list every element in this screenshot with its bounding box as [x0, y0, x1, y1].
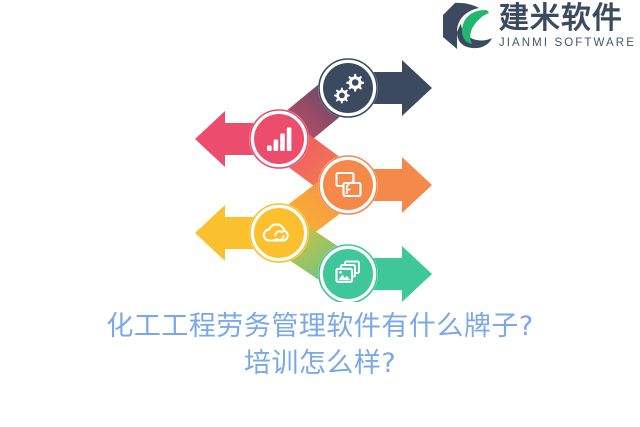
page-title-line-1: 化工工程劳务管理软件有什么牌子?	[0, 308, 640, 345]
brand-name-cn: 建米软件	[499, 3, 623, 35]
page-title-line-2: 培训怎么样?	[0, 345, 640, 382]
step-node-gallery[interactable]	[318, 244, 378, 302]
step-node-gears[interactable]	[318, 58, 378, 118]
step-node-bar-chart[interactable]	[249, 109, 309, 169]
zigzag-process-infographic	[180, 52, 450, 302]
infographic-svg	[180, 52, 450, 302]
brand-name-en: JIANMI SOFTWARE	[499, 36, 636, 50]
step-node-cloud-sync[interactable]	[249, 203, 309, 263]
brand-logo-block: 建米软件 JIANMI SOFTWARE	[441, 2, 636, 50]
step-node-screen-cast[interactable]	[318, 155, 378, 215]
brand-text-block: 建米软件 JIANMI SOFTWARE	[499, 2, 636, 50]
promo-banner: 建米软件 JIANMI SOFTWARE	[0, 0, 640, 427]
page-title: 化工工程劳务管理软件有什么牌子? 培训怎么样?	[0, 308, 640, 382]
jianmi-leaf-logo-icon	[441, 2, 493, 50]
